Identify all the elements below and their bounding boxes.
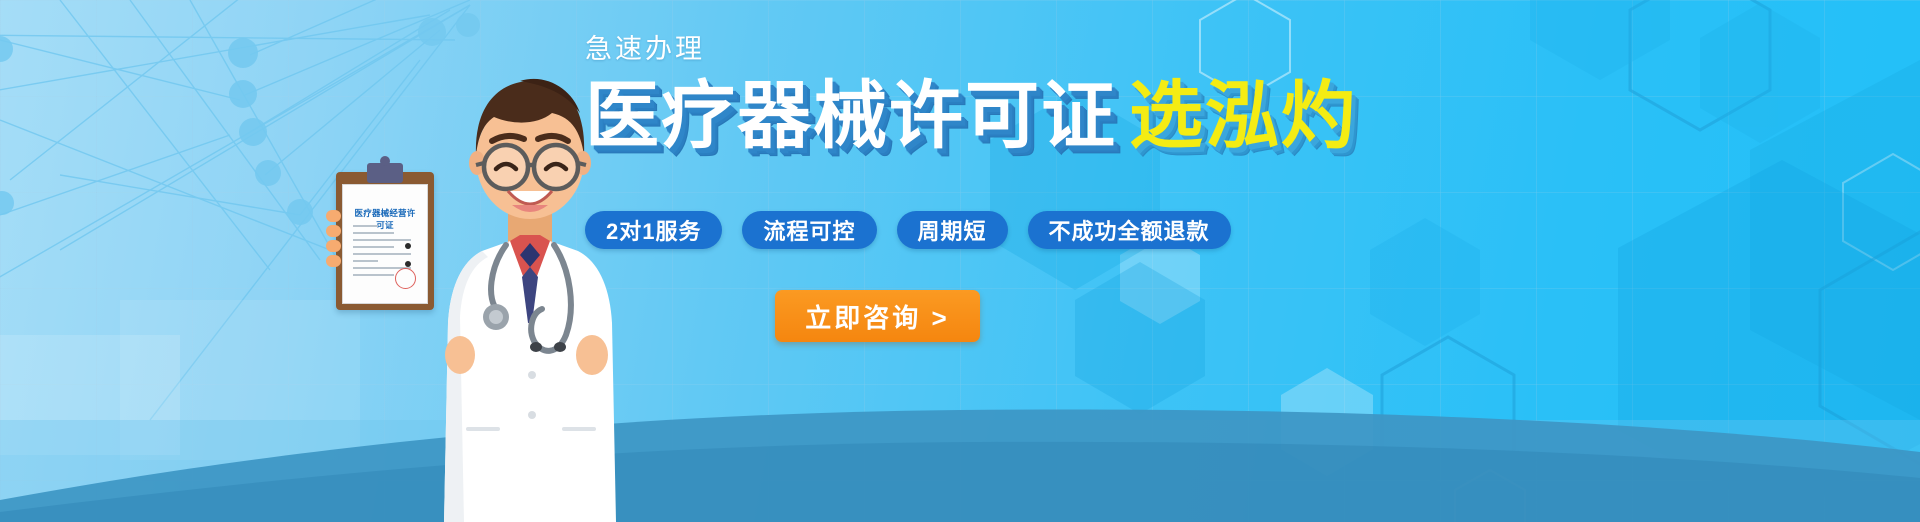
headline-primary: 医疗器械许可证 bbox=[585, 74, 1117, 157]
certificate-line bbox=[353, 260, 378, 262]
certificate-line bbox=[353, 225, 378, 227]
certificate-line bbox=[353, 246, 394, 248]
certificate-mark bbox=[405, 261, 411, 267]
certificate-stamp bbox=[395, 268, 416, 289]
consult-now-button[interactable]: 立即咨询 > bbox=[775, 290, 980, 342]
feature-pill-4[interactable]: 不成功全额退款 bbox=[1028, 211, 1231, 249]
certificate-paper: 医疗器械经营许可证 bbox=[342, 184, 428, 304]
certificate-mark bbox=[405, 243, 411, 249]
certificate-line bbox=[353, 274, 394, 276]
banner-copy: 急速办理 医疗器械许可证选泓灼 bbox=[585, 36, 1305, 153]
feature-pill-2[interactable]: 流程可控 bbox=[742, 211, 876, 249]
certificate-line bbox=[353, 239, 411, 241]
feature-pill-3[interactable]: 周期短 bbox=[897, 211, 1008, 249]
holding-hand bbox=[326, 210, 341, 268]
certificate-line bbox=[353, 253, 411, 255]
promo-banner: 医疗器械经营许可证 bbox=[0, 0, 1920, 522]
page-title: 医疗器械许可证选泓灼 bbox=[585, 79, 1305, 153]
feature-pill-list: 2对1服务 流程可控 周期短 不成功全额退款 bbox=[585, 211, 1231, 249]
feature-pill-1[interactable]: 2对1服务 bbox=[585, 211, 722, 249]
eyebrow-text: 急速办理 bbox=[585, 36, 1305, 63]
certificate-line bbox=[353, 232, 394, 234]
headline-highlight: 选泓灼 bbox=[1129, 74, 1357, 157]
clipboard-clip bbox=[367, 163, 403, 183]
